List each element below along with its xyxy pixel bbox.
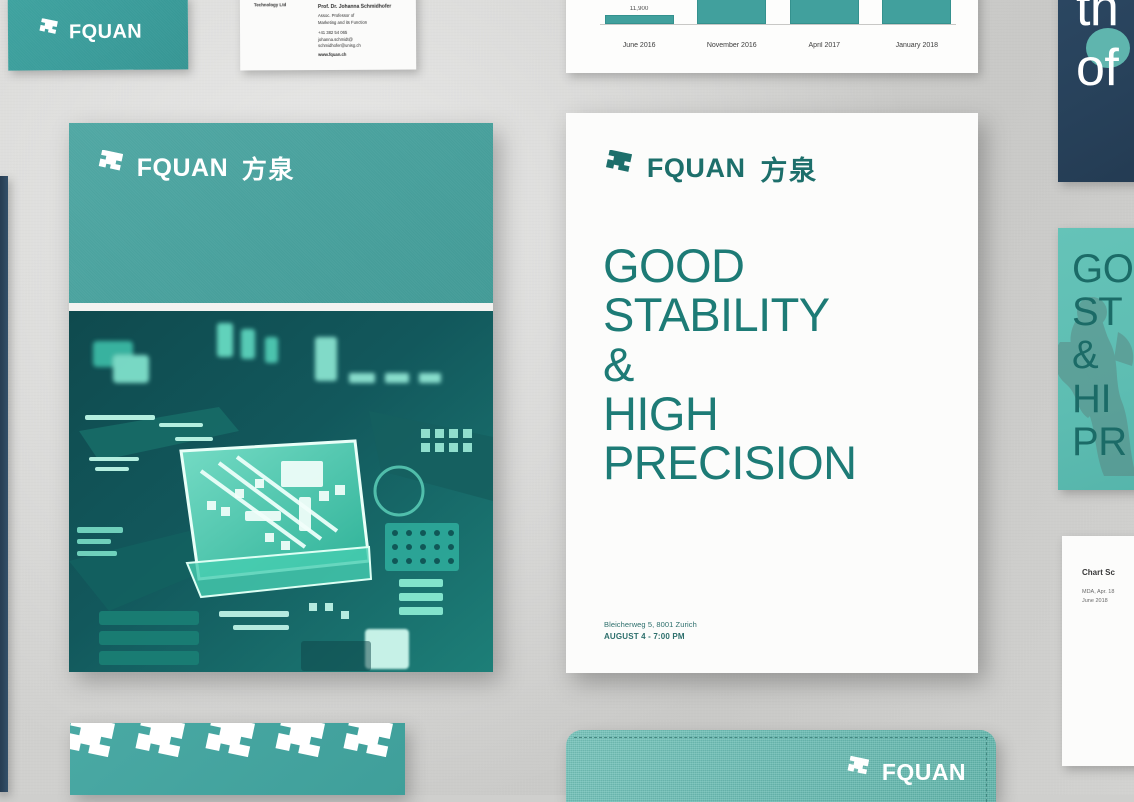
poster-logo-lockup: FQUAN 方泉 [604, 149, 818, 188]
navy-poster: th of [1058, 0, 1134, 182]
x-axis-tick-label: January 2018 [878, 42, 956, 49]
card-contact-role: Assoc. Professor of Marketing and its Fu… [318, 13, 367, 26]
pouch-logo-lockup: FQUAN [846, 756, 966, 788]
fabric-pouch: FQUAN [566, 730, 996, 802]
fquan-bolt-mark-icon [846, 756, 869, 788]
bar-column [878, 0, 956, 24]
bolt-mark-pattern [70, 723, 405, 795]
x-axis-tick-label: November 2016 [693, 42, 771, 49]
bar [790, 0, 859, 24]
bar-column [785, 0, 863, 24]
brochure-cover: FQUAN 方泉 [69, 123, 493, 672]
brochure-photo [69, 311, 493, 672]
brochure-logo-chinese: 方泉 [242, 150, 295, 186]
circuit-board-graphic [69, 311, 493, 672]
poster-headline-line: STABILITY [603, 290, 960, 339]
bar [697, 0, 766, 24]
teal-poster-headline: GO ST & HI PR [1072, 248, 1133, 464]
navy-board-edge [0, 176, 8, 792]
stitch-line-top [574, 737, 988, 739]
chart-x-axis: June 2016November 2016April 2017January … [600, 42, 956, 49]
report-title: Chart Sc [1082, 568, 1115, 577]
card-contact-details: +41 382 54 065 johanna.schmidt@ schmidho… [318, 30, 361, 50]
brochure-logo-wordmark: FQUAN [137, 154, 228, 183]
event-poster: FQUAN 方泉 GOODSTABILITY&HIGHPRECISION Ble… [566, 113, 978, 673]
navy-poster-line-2: of [1076, 44, 1118, 93]
poster-headline-line: HIGH [603, 389, 960, 438]
bar-chart: 11,90034,000 June 2016November 2016April… [600, 0, 956, 53]
bar [605, 15, 674, 24]
logo-wordmark: FQUAN [69, 20, 142, 44]
bar-value-label: 11,900 [630, 6, 649, 12]
poster-datetime: AUGUST 4 - 7:00 PM [604, 632, 697, 641]
poster-headline-line: PRECISION [603, 438, 960, 487]
business-card-teal: FQUAN [8, 0, 189, 71]
teal-poster: GO ST & HI PR [1058, 228, 1134, 490]
business-card-white: Technology Ltd Prof. Dr. Johanna Schmidh… [240, 0, 416, 70]
poster-headline: GOODSTABILITY&HIGHPRECISION [603, 241, 960, 488]
bar-column: 11,900 [600, 0, 678, 24]
x-axis-tick-label: June 2016 [600, 42, 678, 49]
chart-sheet: 11,90034,000 June 2016November 2016April… [566, 0, 978, 73]
logo-lockup: FQUAN [38, 18, 142, 47]
report-subtitle: MDA, Apr. 18 June 2018 [1082, 588, 1114, 606]
pattern-strip [70, 723, 405, 795]
poster-footer: Bleicherweg 5, 8001 Zurich AUGUST 4 - 7:… [604, 620, 697, 641]
poster-logo-chinese: 方泉 [760, 149, 817, 188]
pouch-logo-wordmark: FQUAN [882, 759, 966, 786]
card-website: www.fquan.ch [318, 52, 346, 59]
brochure-logo-lockup: FQUAN 方泉 [97, 150, 295, 186]
poster-headline-line: GOOD [603, 241, 960, 290]
bar [882, 0, 951, 24]
report-sheet: Chart Sc MDA, Apr. 18 June 2018 [1062, 536, 1134, 766]
card-company-line: Technology Ltd [254, 2, 286, 9]
fquan-bolt-mark-icon [97, 150, 123, 186]
poster-address: Bleicherweg 5, 8001 Zurich [604, 620, 697, 629]
fquan-bolt-mark-icon [38, 18, 58, 46]
bar-column: 34,000 [693, 0, 771, 24]
fquan-bolt-mark-icon [604, 150, 632, 188]
chart-plot-area: 11,90034,000 [600, 0, 956, 25]
stitch-line-right [986, 737, 988, 802]
card-contact-name: Prof. Dr. Johanna Schmidhofer [318, 4, 391, 12]
poster-headline-line: & [603, 340, 960, 389]
poster-logo-wordmark: FQUAN [647, 153, 746, 184]
x-axis-tick-label: April 2017 [785, 42, 863, 49]
